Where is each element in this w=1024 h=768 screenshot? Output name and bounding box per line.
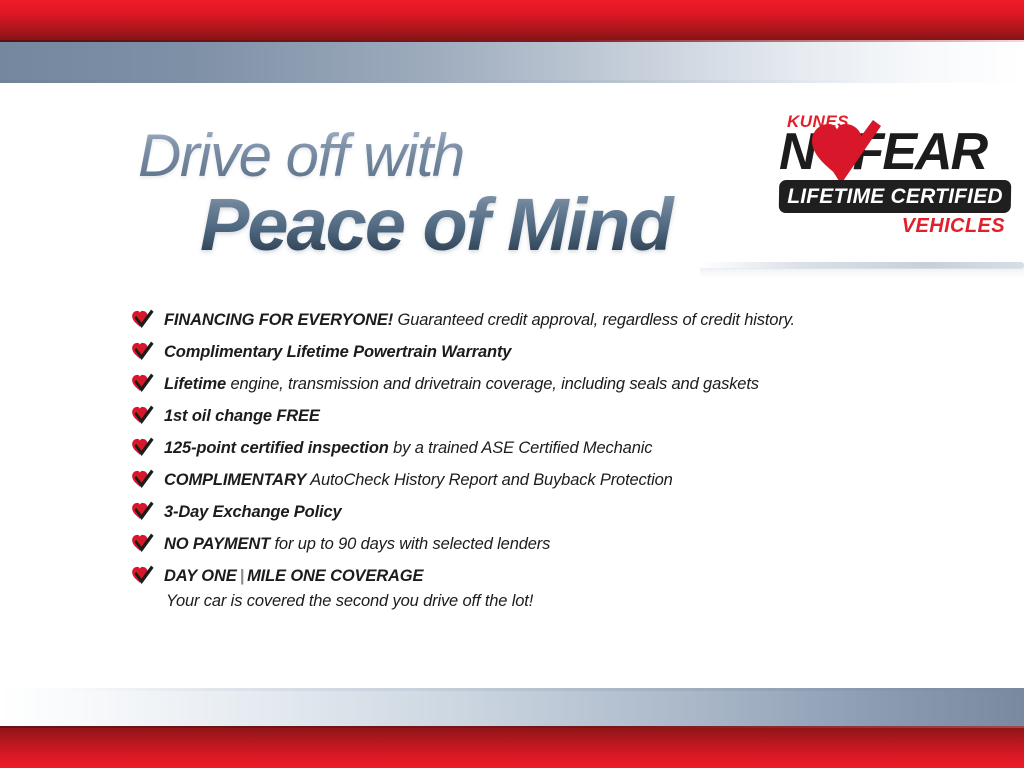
benefit-text: 3-Day Exchange Policy <box>164 500 1010 523</box>
benefit-detail: by a trained ASE Certified Mechanic <box>389 439 653 457</box>
benefit-item: 125-point certified inspection by a trai… <box>130 436 1010 468</box>
heart-check-bullet-icon <box>130 373 158 397</box>
logo-bar-text: LIFETIME CERTIFIED <box>779 180 1011 213</box>
benefit-detail: for up to 90 days with selected lenders <box>270 535 550 553</box>
benefit-detail: Guaranteed credit approval, regardless o… <box>393 311 795 329</box>
logo-lifetime-certified-bar: LIFETIME CERTIFIED <box>779 180 1011 213</box>
benefit-item: NO PAYMENT for up to 90 days with select… <box>130 532 1010 564</box>
benefit-item: DAY ONE|MILE ONE COVERAGEYour car is cov… <box>130 564 1010 620</box>
heart-check-bullet-icon <box>130 469 158 493</box>
headline-line-1: Drive off with <box>138 126 758 186</box>
kunes-no-fear-logo: KUNES NFEAR LIFETIME CERTIFIED VEHICLES <box>779 112 1011 242</box>
benefit-lead: 125-point certified inspection <box>164 439 389 457</box>
benefit-lead: 3-Day Exchange Policy <box>164 503 342 521</box>
benefit-text: 1st oil change FREE <box>164 404 1010 427</box>
heart-check-bullet-icon <box>130 309 158 333</box>
benefit-lead: DAY ONE <box>164 567 237 585</box>
benefit-text: NO PAYMENT for up to 90 days with select… <box>164 532 1010 555</box>
benefit-lead: 1st oil change FREE <box>164 407 320 425</box>
benefit-text: Lifetime engine, transmission and drivet… <box>164 372 1010 395</box>
benefit-detail: AutoCheck History Report and Buyback Pro… <box>306 471 672 489</box>
benefit-item: Lifetime engine, transmission and drivet… <box>130 372 1010 404</box>
benefits-list: FINANCING FOR EVERYONE! Guaranteed credi… <box>130 308 1010 620</box>
benefit-lead: COMPLIMENTARY <box>164 471 306 489</box>
heart-check-bullet-icon <box>130 565 158 589</box>
benefit-item: 3-Day Exchange Policy <box>130 500 1010 532</box>
benefit-lead: FINANCING FOR EVERYONE! <box>164 311 393 329</box>
benefit-separator: | <box>237 567 247 585</box>
benefit-text: Complimentary Lifetime Powertrain Warran… <box>164 340 1010 363</box>
benefit-subtext: Your car is covered the second you drive… <box>166 590 1010 612</box>
benefit-item: COMPLIMENTARY AutoCheck History Report a… <box>130 468 1010 500</box>
headline-divider-shadow <box>700 268 1024 278</box>
heart-check-bullet-icon <box>130 437 158 461</box>
heart-check-bullet-icon <box>130 405 158 429</box>
headline-line-2: Peace of Mind <box>200 188 758 262</box>
headline: Drive off with Peace of Mind <box>138 126 758 262</box>
benefit-lead: Lifetime <box>164 375 226 393</box>
promo-page: Drive off with Peace of Mind KUNES NFEAR… <box>0 0 1024 768</box>
benefit-text: COMPLIMENTARY AutoCheck History Report a… <box>164 468 1010 491</box>
top-red-bar <box>0 0 1024 42</box>
benefit-item: 1st oil change FREE <box>130 404 1010 436</box>
heart-check-bullet-icon <box>130 533 158 557</box>
benefit-item: FINANCING FOR EVERYONE! Guaranteed credi… <box>130 308 1010 340</box>
heart-check-bullet-icon <box>130 341 158 365</box>
benefit-item: Complimentary Lifetime Powertrain Warran… <box>130 340 1010 372</box>
benefit-lead: NO PAYMENT <box>164 535 270 553</box>
benefit-detail: engine, transmission and drivetrain cove… <box>226 375 759 393</box>
benefit-text: DAY ONE|MILE ONE COVERAGE <box>164 564 1010 587</box>
benefit-lead: Complimentary Lifetime Powertrain Warran… <box>164 343 511 361</box>
benefit-text: FINANCING FOR EVERYONE! Guaranteed credi… <box>164 308 1010 331</box>
benefit-text: 125-point certified inspection by a trai… <box>164 436 1010 459</box>
benefit-lead-2: MILE ONE COVERAGE <box>247 567 423 585</box>
top-gray-bar <box>0 42 1024 83</box>
logo-vehicles-text: VEHICLES <box>902 215 1005 238</box>
heart-check-bullet-icon <box>130 501 158 525</box>
